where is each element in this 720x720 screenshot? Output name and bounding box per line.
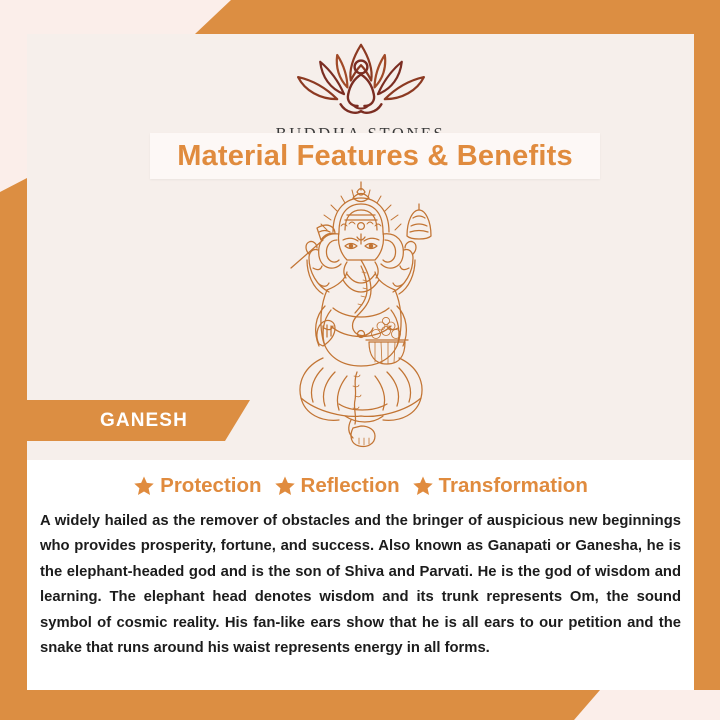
deity-name-tag: GANESH (0, 400, 250, 441)
feature-label: Reflection (301, 474, 400, 498)
ganesha-line-art-icon (261, 176, 461, 466)
paper-surface: BUDDHA STONES Material Features & Benefi… (27, 34, 694, 690)
star-icon (133, 475, 155, 497)
page-title: Material Features & Benefits (177, 140, 573, 173)
feature-item-transformation: Transformation (412, 474, 588, 498)
frame-bottom-bar (0, 690, 600, 720)
feature-label: Transformation (439, 474, 588, 498)
lotus-meditation-figure-icon (276, 38, 446, 118)
deity-name-label: GANESH (100, 410, 188, 432)
feature-label: Protection (160, 474, 261, 498)
star-icon (274, 475, 296, 497)
star-icon (412, 475, 434, 497)
feature-list: Protection Reflection (36, 474, 685, 498)
content-panel: Protection Reflection (27, 460, 694, 690)
feature-item-protection: Protection (133, 474, 261, 498)
infographic-card: BUDDHA STONES Material Features & Benefi… (0, 0, 720, 720)
feature-item-reflection: Reflection (274, 474, 400, 498)
frame-right-bar (694, 0, 720, 690)
title-banner: Material Features & Benefits (150, 133, 600, 179)
description-text: A widely hailed as the remover of obstac… (36, 509, 685, 662)
brand-logo: BUDDHA STONES (27, 38, 694, 144)
frame-top-bar (195, 0, 720, 34)
